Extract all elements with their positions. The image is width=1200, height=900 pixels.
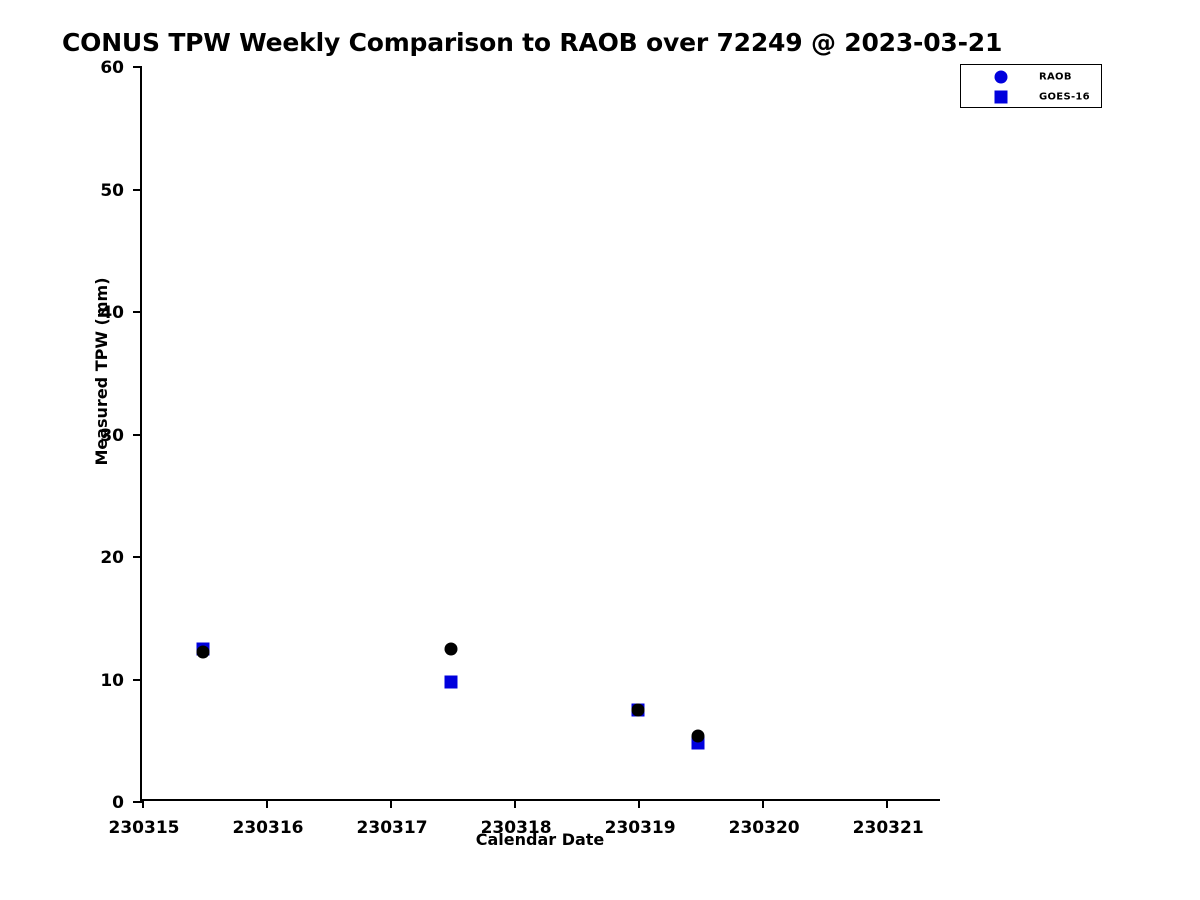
x-tick: 230321 [886, 799, 888, 808]
data-point-raob [196, 645, 209, 658]
legend-marker-circle-icon [995, 71, 1008, 84]
plot-area: 0102030405060 23031523031623031723031823… [140, 66, 940, 801]
legend-label: GOES-16 [1039, 92, 1090, 103]
x-tick: 230315 [142, 799, 144, 808]
legend-entry: GOES-16 [961, 87, 1101, 107]
y-tick: 30 [133, 434, 142, 436]
x-tick: 230319 [638, 799, 640, 808]
data-point-raob [632, 704, 645, 717]
legend-entry: RAOB [961, 67, 1101, 87]
data-point-raob [691, 730, 704, 743]
data-point-raob [444, 643, 457, 656]
y-axis-label: Measured TPW (mm) [92, 4, 111, 739]
chart-figure: CONUS TPW Weekly Comparison to RAOB over… [0, 0, 1200, 900]
chart-legend: RAOBGOES-16 [960, 64, 1102, 108]
y-tick: 50 [133, 189, 142, 191]
y-tick: 10 [133, 679, 142, 681]
data-point-goes-16 [444, 676, 457, 689]
y-tick-label: 0 [112, 793, 124, 813]
y-tick: 20 [133, 556, 142, 558]
y-tick: 40 [133, 311, 142, 313]
x-tick: 230320 [762, 799, 764, 808]
chart-title: CONUS TPW Weekly Comparison to RAOB over… [62, 28, 1002, 57]
x-axis-label: Calendar Date [140, 830, 940, 849]
y-tick: 0 [133, 801, 142, 803]
legend-label: RAOB [1039, 72, 1072, 83]
x-tick: 230317 [390, 799, 392, 808]
x-tick: 230318 [514, 799, 516, 808]
legend-marker-square-icon [995, 91, 1008, 104]
x-tick: 230316 [266, 799, 268, 808]
y-tick: 60 [133, 66, 142, 68]
